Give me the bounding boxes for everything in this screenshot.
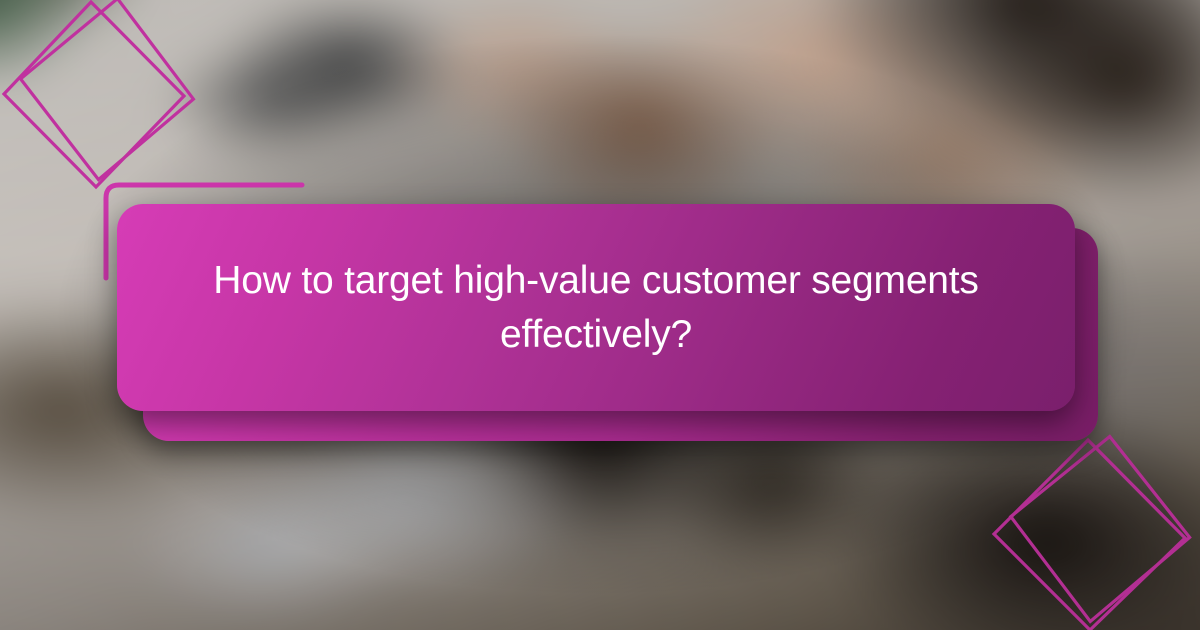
diamond-outline-3 [994,440,1185,630]
decorative-diamonds-top-left [0,0,226,204]
diamond-outline-2 [11,0,203,189]
diamond-outline-4 [1001,427,1199,630]
social-card-canvas: How to target high-value customer segmen… [0,0,1200,630]
page-title: How to target high-value customer segmen… [196,254,996,360]
decorative-diamonds-bottom-right [980,430,1195,630]
headline-card: How to target high-value customer segmen… [117,204,1075,411]
